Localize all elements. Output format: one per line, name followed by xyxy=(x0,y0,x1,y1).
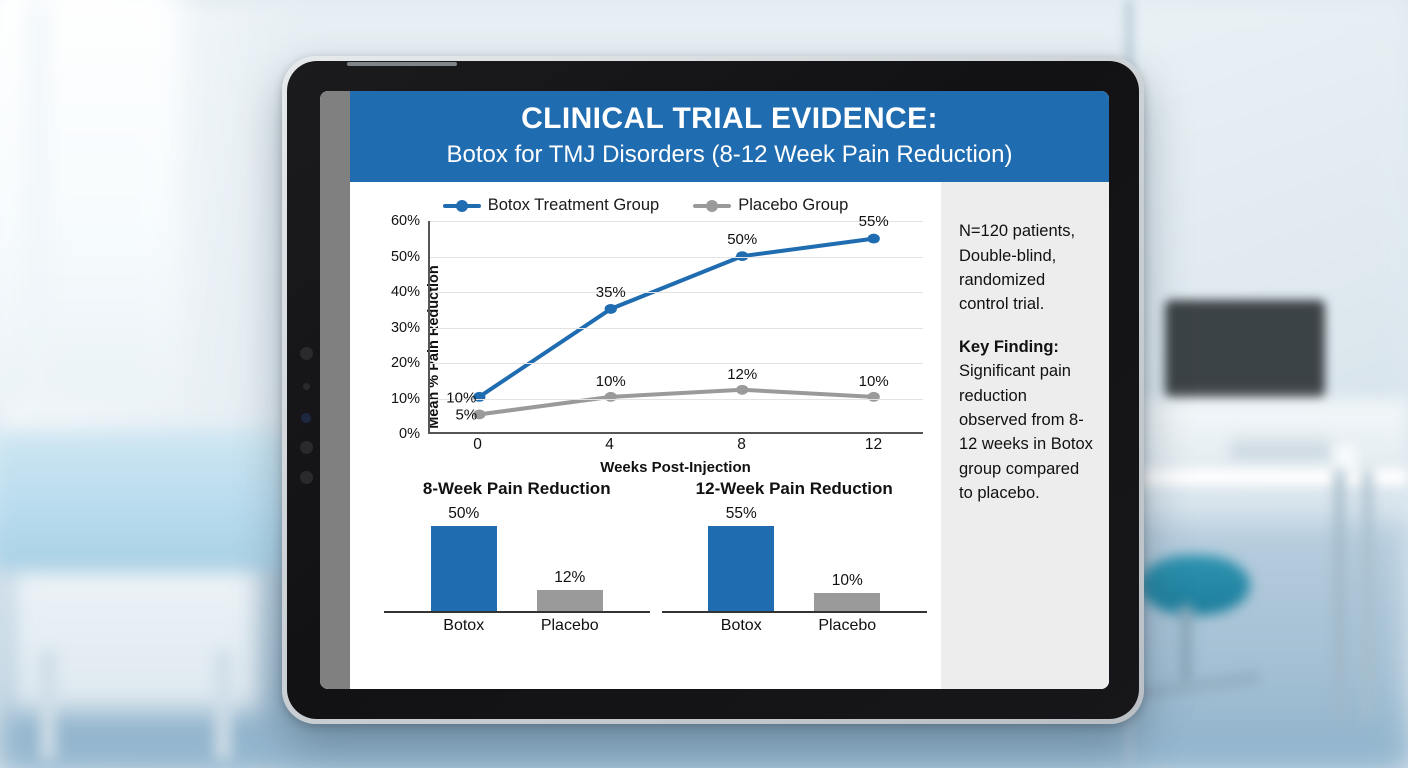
x-tick-label: 4 xyxy=(605,436,614,454)
y-tick-label: 30% xyxy=(391,320,420,336)
bar-rect[interactable] xyxy=(537,590,603,612)
bar-category-label: Placebo xyxy=(537,617,603,635)
gridline xyxy=(430,363,923,364)
y-tick-label: 60% xyxy=(391,213,420,229)
data-point[interactable] xyxy=(736,385,748,395)
bar-column[interactable]: 10% xyxy=(814,505,880,611)
x-tick-label: 8 xyxy=(737,436,746,454)
data-point-label: 12% xyxy=(727,366,757,383)
data-point-label: 50% xyxy=(727,231,757,248)
screen-left-edge-strip xyxy=(320,91,350,689)
data-point-label: 55% xyxy=(859,213,889,230)
x-tick-label: 0 xyxy=(473,436,482,454)
gridline xyxy=(430,221,923,222)
gridline xyxy=(430,257,923,258)
line-chart: Mean % Pain Reduction 0%10%20%30%40%50%6… xyxy=(358,221,923,473)
bar-rect[interactable] xyxy=(708,526,774,611)
bar-chart-8-week-title: 8-Week Pain Reduction xyxy=(384,479,650,499)
data-point[interactable] xyxy=(605,304,617,314)
bar-value-label: 50% xyxy=(448,505,479,523)
key-finding-label: Key Finding: xyxy=(959,338,1059,356)
tablet-screen: CLINICAL TRIAL EVIDENCE: Botox for TMJ D… xyxy=(320,91,1109,689)
line-chart-x-ticks: 04812 xyxy=(428,436,923,458)
key-finding-text: Significant pain reduction observed from… xyxy=(959,362,1093,502)
line-chart-y-ticks: 0%10%20%30%40%50%60% xyxy=(380,221,424,434)
x-tick-label: 12 xyxy=(865,436,882,454)
tablet-indicator-led xyxy=(301,413,311,423)
gridline xyxy=(430,292,923,293)
bar-chart-12-week-title: 12-Week Pain Reduction xyxy=(662,479,928,499)
background-exam-bed xyxy=(0,430,290,570)
gridline xyxy=(430,399,923,400)
bar-value-label: 12% xyxy=(554,569,585,587)
data-point-label: 10% xyxy=(859,373,889,390)
bar-rect[interactable] xyxy=(431,526,497,611)
bar-column[interactable]: 12% xyxy=(537,505,603,611)
line-chart-x-axis-label: Weeks Post-Injection xyxy=(428,459,923,476)
tablet-top-sensor xyxy=(347,62,457,66)
tablet-side-button-2[interactable] xyxy=(303,383,310,390)
key-finding-block: Key Finding: Significant pain reduction … xyxy=(959,335,1095,506)
bar-column[interactable]: 50% xyxy=(431,505,497,611)
y-tick-label: 0% xyxy=(399,426,420,442)
series-line-botox xyxy=(479,239,873,397)
legend-item-placebo[interactable]: Placebo Group xyxy=(693,196,848,215)
line-chart-svg xyxy=(430,221,923,432)
tablet-side-button-4[interactable] xyxy=(300,471,313,484)
tablet-side-button-3[interactable] xyxy=(300,441,313,454)
bar-category-label: Botox xyxy=(431,617,497,635)
legend-line-marker-placebo xyxy=(693,204,731,208)
slide-header: CLINICAL TRIAL EVIDENCE: Botox for TMJ D… xyxy=(350,91,1109,182)
chart-legend: Botox Treatment Group Placebo Group xyxy=(350,182,941,219)
bar-value-label: 55% xyxy=(726,505,757,523)
series-line-placebo xyxy=(479,390,873,415)
data-point-label: 5% xyxy=(455,407,477,424)
data-point-label: 10% xyxy=(446,389,476,406)
tablet-device: CLINICAL TRIAL EVIDENCE: Botox for TMJ D… xyxy=(282,56,1144,724)
y-tick-label: 20% xyxy=(391,355,420,371)
background-monitor xyxy=(1165,300,1325,400)
bar-chart-12-week: 12-Week Pain Reduction 55%10% BotoxPlace… xyxy=(662,479,928,635)
data-point[interactable] xyxy=(868,392,880,402)
slide-content: CLINICAL TRIAL EVIDENCE: Botox for TMJ D… xyxy=(350,91,1109,689)
data-point[interactable] xyxy=(605,392,617,402)
tablet-bezel: CLINICAL TRIAL EVIDENCE: Botox for TMJ D… xyxy=(287,61,1139,719)
charts-region: Botox Treatment Group Placebo Group Mean… xyxy=(350,182,941,689)
bar-category-label: Botox xyxy=(708,617,774,635)
legend-label-botox: Botox Treatment Group xyxy=(488,196,660,215)
study-info-text: N=120 patients, Double-blind, randomized… xyxy=(959,219,1095,317)
bar-charts-row: 8-Week Pain Reduction 50%12% BotoxPlaceb… xyxy=(350,473,941,635)
legend-label-placebo: Placebo Group xyxy=(738,196,848,215)
bar-chart-8-week: 8-Week Pain Reduction 50%12% BotoxPlaceb… xyxy=(384,479,650,635)
page-title: CLINICAL TRIAL EVIDENCE: xyxy=(364,102,1095,136)
bar-column[interactable]: 55% xyxy=(708,505,774,611)
bar-rect[interactable] xyxy=(814,593,880,611)
background-stool xyxy=(1140,555,1250,615)
gridline xyxy=(430,328,923,329)
bar-value-label: 10% xyxy=(832,572,863,590)
data-point-label: 10% xyxy=(596,373,626,390)
data-point-label: 35% xyxy=(596,284,626,301)
bar-category-label: Placebo xyxy=(814,617,880,635)
legend-item-botox[interactable]: Botox Treatment Group xyxy=(443,196,660,215)
line-chart-plot-area: 10%35%50%55%5%10%12%10% xyxy=(428,221,923,434)
y-tick-label: 40% xyxy=(391,284,420,300)
page-subtitle: Botox for TMJ Disorders (8-12 Week Pain … xyxy=(364,141,1095,169)
tablet-side-button-1[interactable] xyxy=(300,347,313,360)
y-tick-label: 50% xyxy=(391,249,420,265)
data-point[interactable] xyxy=(868,234,880,244)
study-info-panel: N=120 patients, Double-blind, randomized… xyxy=(941,182,1109,689)
y-tick-label: 10% xyxy=(391,391,420,407)
legend-line-marker-botox xyxy=(443,204,481,208)
